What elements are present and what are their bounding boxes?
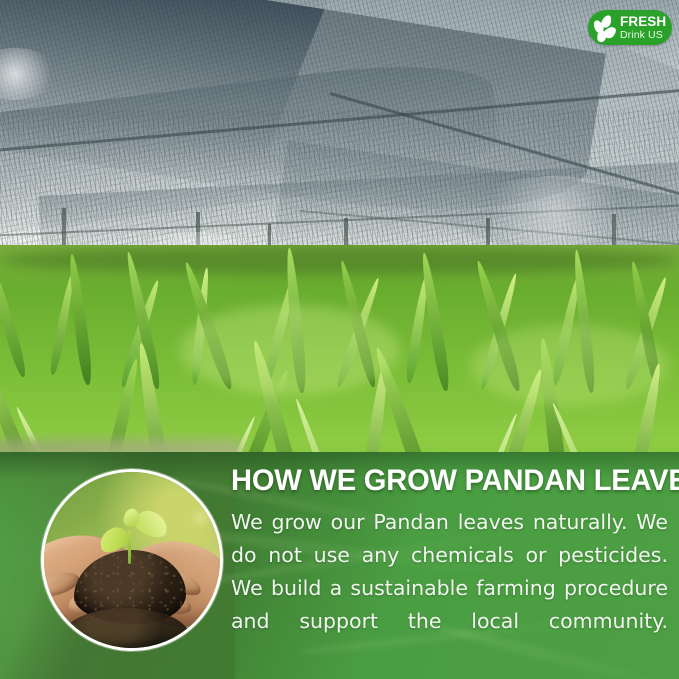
logo-secondary-text: Drink US	[620, 30, 666, 41]
seedling-circle-photo	[41, 469, 223, 651]
bokeh-light	[190, 508, 210, 528]
product-infographic-canvas: HOW WE GROW PANDAN LEAVES We grow our Pa…	[0, 0, 679, 679]
panel-body-text: We grow our Pandan leaves naturally. We …	[231, 497, 668, 671]
logo-text-group: FRESH Drink US	[620, 15, 666, 41]
logo-primary-text: FRESH	[620, 15, 666, 29]
field-light-patch	[470, 325, 670, 405]
field-light-patch	[180, 305, 400, 395]
panel-text-block: HOW WE GROW PANDAN LEAVES We grow our Pa…	[231, 452, 671, 671]
light-glow	[470, 176, 640, 246]
leaf-cluster-icon	[593, 13, 619, 43]
fresh-drink-us-logo[interactable]: FRESH Drink US	[588, 10, 672, 45]
page-title: HOW WE GROW PANDAN LEAVES	[231, 452, 658, 497]
